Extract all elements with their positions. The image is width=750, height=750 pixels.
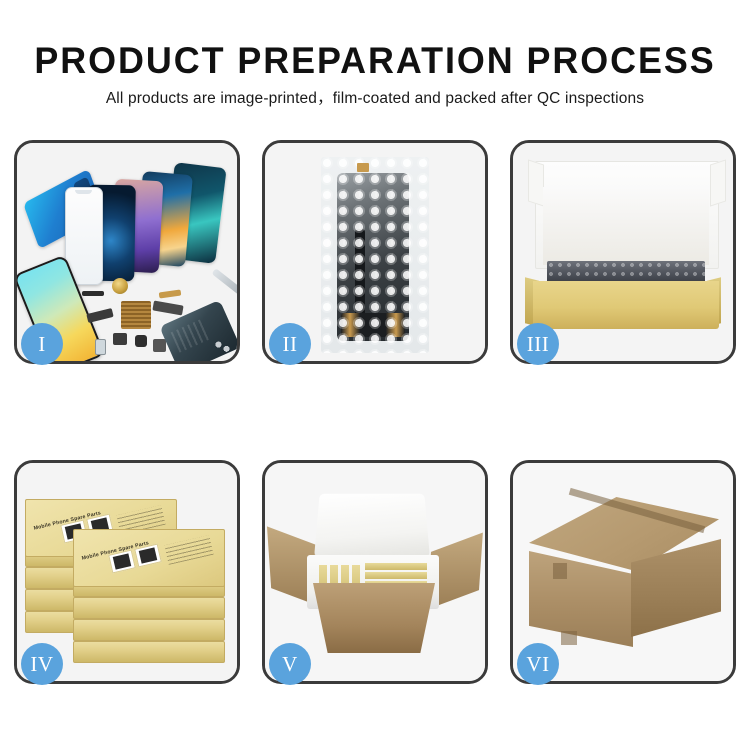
process-step-panel-6[interactable]: VI bbox=[510, 460, 736, 684]
carton-tape-upper-icon bbox=[553, 563, 567, 579]
step-badge-3: III bbox=[517, 323, 559, 365]
yellow-box-tray-icon bbox=[533, 281, 719, 329]
step-badge-5: V bbox=[269, 643, 311, 685]
bubble-texture-icon bbox=[321, 157, 429, 353]
speaker-part-icon bbox=[112, 278, 128, 294]
process-step-panel-5[interactable]: V bbox=[262, 460, 488, 684]
process-step-panel-1[interactable]: I bbox=[14, 140, 240, 364]
product-process-page: PRODUCT PREPARATION PROCESS All products… bbox=[0, 0, 750, 750]
step-badge-1: I bbox=[21, 323, 63, 365]
camera-module-icon bbox=[153, 339, 166, 352]
process-step-panel-3[interactable]: III bbox=[510, 140, 736, 364]
connector-1-icon bbox=[113, 333, 127, 345]
earpiece-part-icon bbox=[82, 291, 104, 296]
process-step-panel-2[interactable]: II bbox=[262, 140, 488, 364]
page-subtitle: All products are image-printed，film-coat… bbox=[0, 88, 750, 110]
carton-tape-lower-icon bbox=[561, 631, 577, 645]
step-badge-6: VI bbox=[517, 643, 559, 685]
styrofoam-lid-icon bbox=[314, 494, 430, 558]
step-badge-4: IV bbox=[21, 643, 63, 685]
process-steps-grid: I II bbox=[14, 140, 736, 684]
page-title: PRODUCT PREPARATION PROCESS bbox=[11, 40, 739, 82]
chip-array-icon bbox=[121, 301, 151, 329]
box-stack-icon: Mobile Phone Spare Parts Mobile Phone Sp… bbox=[25, 489, 235, 671]
box-lid-front: Mobile Phone Spare Parts bbox=[73, 529, 225, 587]
page-header: PRODUCT PREPARATION PROCESS All products… bbox=[0, 0, 750, 110]
tape-strip-icon bbox=[357, 163, 369, 172]
step-badge-2: II bbox=[269, 323, 311, 365]
carton-body-icon bbox=[313, 583, 435, 653]
bubble-wrap-package-icon bbox=[321, 157, 429, 353]
connector-2-icon bbox=[135, 335, 147, 347]
screws-icon bbox=[213, 339, 231, 353]
sim-tray-icon bbox=[95, 339, 106, 355]
process-step-panel-4[interactable]: Mobile Phone Spare Parts Mobile Phone Sp… bbox=[14, 460, 240, 684]
foam-sheet-icon bbox=[543, 187, 709, 265]
